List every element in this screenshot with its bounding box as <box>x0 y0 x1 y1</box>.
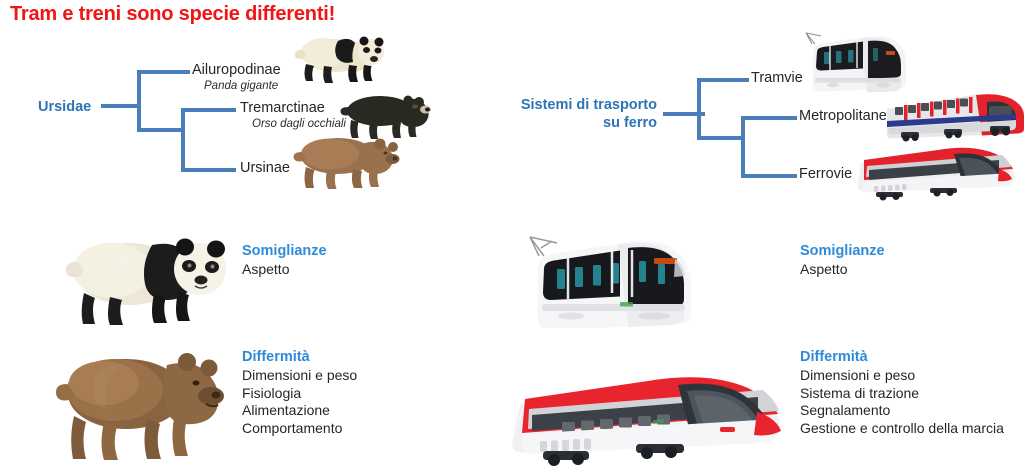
left-differences-item-2: Alimentazione <box>242 402 357 420</box>
left-differences-block: Differmità Dimensioni e peso Fisiologia … <box>242 349 357 438</box>
right-tree-root-line1: Sistemi di trasporto <box>521 97 657 113</box>
left-tree-branch-3-label: Ursinae <box>240 160 290 176</box>
right-differences-item-3: Gestione e controllo della marcia <box>800 420 1004 438</box>
giant-panda-photo <box>288 28 396 86</box>
brown-bear-photo-large <box>56 342 226 462</box>
right-similarities-block: Somiglianze Aspetto <box>800 243 885 279</box>
left-tree-node-2 <box>181 108 185 172</box>
left-tree-branch-1 <box>137 70 190 74</box>
right-similarities-heading: Somiglianze <box>800 243 885 259</box>
left-tree-branch-2 <box>181 108 236 112</box>
left-differences-item-3: Comportamento <box>242 420 357 438</box>
left-tree-branch-2-label: Tremarctinae <box>240 100 325 116</box>
right-tree-root-label: Sistemi di trasporto su ferro <box>505 96 657 132</box>
brown-bear-photo <box>290 130 402 192</box>
right-tree-branch-1 <box>697 78 749 82</box>
right-tree-branch-3 <box>741 174 797 178</box>
left-tree-root-label: Ursidae <box>38 99 91 115</box>
right-differences-heading: Differmità <box>800 349 1004 365</box>
right-similarities-item-0: Aspetto <box>800 261 885 279</box>
right-tree-node-2 <box>741 116 745 178</box>
left-differences-item-0: Dimensioni e peso <box>242 367 357 385</box>
right-differences-item-2: Segnalamento <box>800 402 1004 420</box>
tram-photo-large <box>516 228 706 328</box>
high-speed-train-photo-large <box>508 356 790 468</box>
right-tree-branch-1-label: Tramvie <box>751 70 803 86</box>
left-tree-branch-3 <box>181 168 236 172</box>
right-tree-root-line2: su ferro <box>603 115 657 131</box>
left-tree-stem <box>101 104 141 108</box>
left-differences-item-1: Fisiologia <box>242 385 357 403</box>
right-differences-item-0: Dimensioni e peso <box>800 367 1004 385</box>
right-tree-branch-2 <box>741 116 797 120</box>
left-differences-heading: Differmità <box>242 349 357 365</box>
left-similarities-block: Somiglianze Aspetto <box>242 243 327 279</box>
left-tree-node-1 <box>137 70 141 132</box>
left-tree-branch-1-common: Panda gigante <box>204 80 278 93</box>
right-differences-item-1: Sistema di trazione <box>800 385 1004 403</box>
left-tree-branch-2-common: Orso dagli occhiali <box>252 118 346 131</box>
right-tree-branch-2-label: Metropolitane <box>799 108 887 124</box>
high-speed-train-photo-small <box>856 138 1018 204</box>
left-tree-link-node-2 <box>137 128 185 132</box>
right-tree-branch-3-label: Ferrovie <box>799 166 852 182</box>
left-similarities-heading: Somiglianze <box>242 243 327 259</box>
left-tree-branch-1-label: Ailuropodinae <box>192 62 281 78</box>
giant-panda-photo-large <box>64 226 236 326</box>
right-tree-node-1 <box>697 78 701 140</box>
right-tree-link-node-2 <box>697 136 745 140</box>
left-similarities-item-0: Aspetto <box>242 261 327 279</box>
metro-train-photo <box>884 78 1024 146</box>
right-differences-block: Differmità Dimensioni e peso Sistema di … <box>800 349 1004 438</box>
